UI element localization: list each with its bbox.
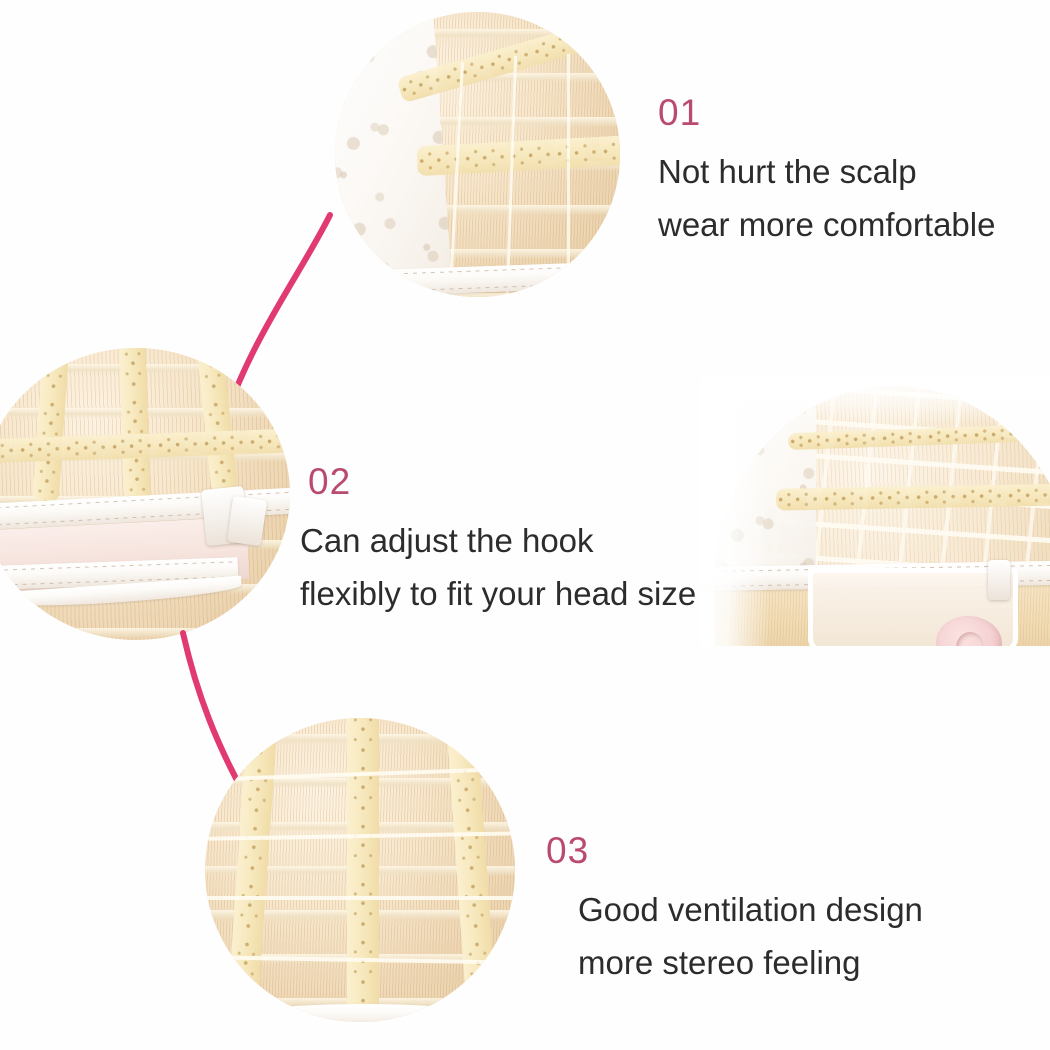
main-eyelet-band-lower xyxy=(776,483,1050,510)
callout-02-line-2: flexibly to fit your head size xyxy=(300,567,696,620)
callout-02-number: 02 xyxy=(308,463,696,500)
infographic-canvas: 01 Not hurt the scalp wear more comforta… xyxy=(0,0,1050,1050)
callout-01-line-1: Not hurt the scalp xyxy=(658,145,995,198)
feature-photo-02 xyxy=(0,348,290,640)
callout-02: 02 Can adjust the hook flexibly to fit y… xyxy=(308,463,696,621)
adjust-hook-loop xyxy=(227,496,267,546)
main-photo-wig-cap xyxy=(700,378,1050,646)
callout-01-line-2: wear more comfortable xyxy=(658,198,995,251)
cap-bottom-edge-band xyxy=(245,1004,481,1022)
callout-03: 03 Good ventilation design more stereo f… xyxy=(546,832,923,990)
photo-top-fade xyxy=(700,378,1050,424)
callout-03-line-1: Good ventilation design xyxy=(578,883,923,936)
main-strap-buckle xyxy=(988,560,1010,600)
feature-photo-01 xyxy=(335,12,620,297)
feature-photo-03 xyxy=(205,718,515,1022)
callout-01-number: 01 xyxy=(658,94,995,131)
callout-03-number: 03 xyxy=(546,832,923,869)
callout-01: 01 Not hurt the scalp wear more comforta… xyxy=(658,94,995,252)
callout-03-line-2: more stereo feeling xyxy=(578,936,923,989)
vent-band-center xyxy=(347,718,379,1022)
eyelet-band-vertical-b xyxy=(119,348,151,500)
callout-02-line-1: Can adjust the hook xyxy=(300,514,696,567)
